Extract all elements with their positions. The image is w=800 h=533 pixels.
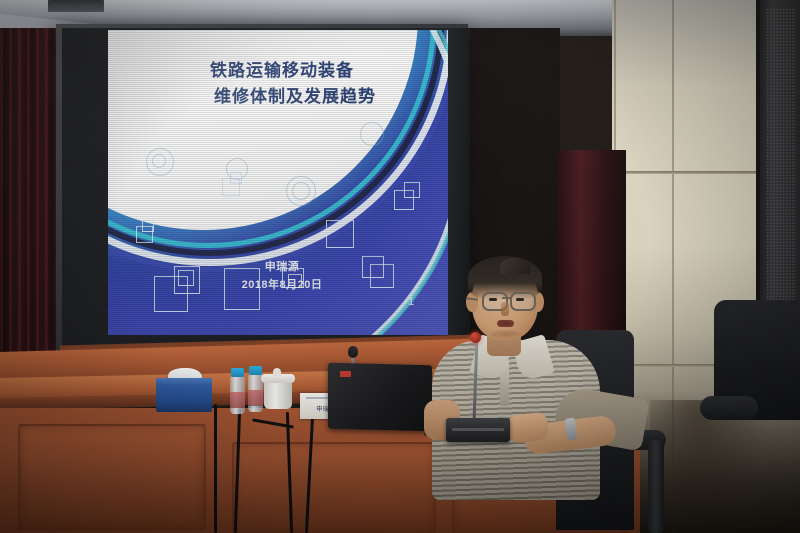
tissue-box — [156, 384, 212, 412]
slide-ring-6 — [360, 122, 384, 146]
speaker-eye-right — [516, 298, 524, 301]
speaker-mouth — [497, 320, 514, 327]
conference-room-photo: 铁路运输移动装备 维修体制及发展趋势 申瑞源 2018年8月20日 1 申瑞源 — [0, 0, 800, 533]
laptop-logo — [340, 371, 351, 377]
podium-panel-2 — [232, 442, 436, 533]
water-bottle-1-cap — [231, 368, 244, 377]
wall-seam-horizontal-1 — [612, 171, 762, 174]
slide-square-a2 — [230, 172, 242, 184]
presentation-slide: 铁路运输移动装备 维修体制及发展趋势 申瑞源 2018年8月20日 1 — [108, 30, 456, 335]
microphone-base-strip — [452, 428, 504, 431]
slide-square-b2 — [142, 220, 154, 232]
slide-ring-5 — [292, 182, 310, 200]
water-bottle-2-label — [248, 390, 263, 406]
water-bottle-1-label — [230, 392, 245, 408]
speaker-chin-shadow — [490, 330, 520, 338]
teacup-lid-knob — [273, 368, 281, 376]
ceiling-fixture — [48, 0, 104, 12]
slide-page-number: 1 — [408, 296, 438, 308]
slide-square-h2 — [404, 182, 420, 198]
microphone-2-head — [348, 346, 358, 358]
slide-square-f1 — [326, 220, 354, 248]
chair-armrest-right — [700, 396, 758, 420]
slide-title-line1: 铁路运输移动装备 — [210, 61, 354, 80]
speaker-hair-part — [500, 258, 530, 274]
slide-date: 2018年8月20日 — [108, 276, 456, 292]
eyeglasses-lens-right — [510, 292, 536, 311]
slide-author: 申瑞源 — [108, 258, 456, 274]
water-bottle-2-cap — [249, 366, 262, 375]
podium-panel-1 — [18, 424, 206, 532]
speaker-nose — [501, 302, 509, 316]
slide-ring-2 — [152, 154, 166, 168]
teacup — [264, 381, 292, 409]
speaker-eye-left — [489, 298, 497, 301]
microphone-indicator-light — [470, 332, 481, 343]
slide-title: 铁路运输移动装备 维修体制及发展趋势 — [108, 58, 456, 109]
cable-1 — [214, 404, 217, 533]
eyeglasses-bridge — [502, 297, 512, 299]
slide-title-line2: 维修体制及发展趋势 — [108, 84, 456, 110]
chair-armrest-post — [648, 440, 664, 533]
